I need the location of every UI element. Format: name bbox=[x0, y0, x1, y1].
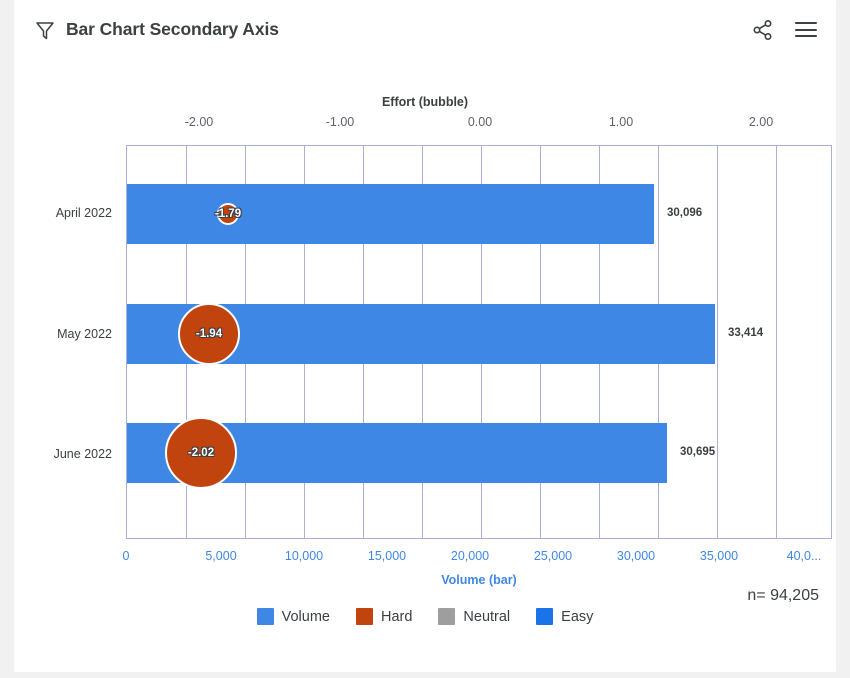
sample-size-footnote: n= 94,205 bbox=[747, 587, 819, 605]
gridline bbox=[717, 146, 718, 538]
bar-value-label: 30,096 bbox=[667, 207, 702, 219]
legend-item-easy[interactable]: Easy bbox=[536, 608, 593, 625]
bottom-axis-tick-label: 25,000 bbox=[534, 549, 572, 563]
share-icon[interactable] bbox=[750, 17, 776, 43]
top-axis-tick-label: 1.00 bbox=[609, 115, 633, 129]
bar-value-label: 33,414 bbox=[728, 327, 763, 339]
menu-bar bbox=[795, 22, 817, 24]
legend-label: Hard bbox=[381, 609, 412, 625]
plot-area: -1.79-1.94-2.02 30,09633,41430,695 bbox=[126, 145, 832, 539]
legend-label: Neutral bbox=[463, 609, 510, 625]
chart-legend: VolumeHardNeutralEasy bbox=[14, 608, 836, 625]
bubble-value-label: -1.94 bbox=[196, 328, 222, 340]
bubble[interactable]: -1.79 bbox=[217, 203, 239, 225]
legend-swatch bbox=[536, 608, 553, 625]
chart-card: Bar Chart Secondary Axis Effort (bubble)… bbox=[14, 0, 836, 672]
bottom-axis-tick-label: 35,000 bbox=[700, 549, 738, 563]
top-axis-tick-label: 2.00 bbox=[749, 115, 773, 129]
top-axis-title: Effort (bubble) bbox=[14, 95, 836, 109]
bottom-axis-tick-label: 20,000 bbox=[451, 549, 489, 563]
category-label: April 2022 bbox=[14, 206, 112, 220]
menu-bar bbox=[795, 29, 817, 31]
category-label: May 2022 bbox=[14, 327, 112, 341]
legend-label: Easy bbox=[561, 609, 593, 625]
bubble[interactable]: -2.02 bbox=[165, 417, 237, 489]
bottom-axis-tick-label: 10,000 bbox=[285, 549, 323, 563]
bottom-axis-tick-label: 5,000 bbox=[205, 549, 236, 563]
filter-funnel-icon[interactable] bbox=[32, 17, 58, 43]
bottom-axis-title: Volume (bar) bbox=[126, 573, 832, 587]
bubble[interactable]: -1.94 bbox=[178, 303, 240, 365]
top-axis-tick-label: 0.00 bbox=[468, 115, 492, 129]
bottom-axis-tick-label: 0 bbox=[123, 549, 130, 563]
bottom-axis-tick-label: 30,000 bbox=[617, 549, 655, 563]
card-header: Bar Chart Secondary Axis bbox=[14, 0, 836, 60]
bar[interactable] bbox=[127, 184, 654, 244]
page-title: Bar Chart Secondary Axis bbox=[66, 19, 279, 40]
bottom-axis-tick-label: 15,000 bbox=[368, 549, 406, 563]
chart-container: Effort (bubble) -2.00-1.000.001.002.00 A… bbox=[14, 60, 836, 672]
top-axis-tick-label: -1.00 bbox=[326, 115, 355, 129]
menu-bar bbox=[795, 35, 817, 37]
bottom-axis-tick-label: 40,0... bbox=[787, 549, 822, 563]
bubble-value-label: -2.02 bbox=[188, 447, 214, 459]
legend-label: Volume bbox=[282, 609, 330, 625]
legend-item-volume[interactable]: Volume bbox=[257, 608, 330, 625]
top-axis-tick-label: -2.00 bbox=[185, 115, 214, 129]
bubble-value-label: -1.79 bbox=[215, 208, 241, 220]
legend-item-hard[interactable]: Hard bbox=[356, 608, 412, 625]
gridline bbox=[776, 146, 777, 538]
category-label: June 2022 bbox=[14, 447, 112, 461]
legend-swatch bbox=[438, 608, 455, 625]
bar-value-label: 30,695 bbox=[680, 446, 715, 458]
legend-item-neutral[interactable]: Neutral bbox=[438, 608, 510, 625]
legend-swatch bbox=[356, 608, 373, 625]
hamburger-menu-icon[interactable] bbox=[793, 17, 819, 43]
legend-swatch bbox=[257, 608, 274, 625]
